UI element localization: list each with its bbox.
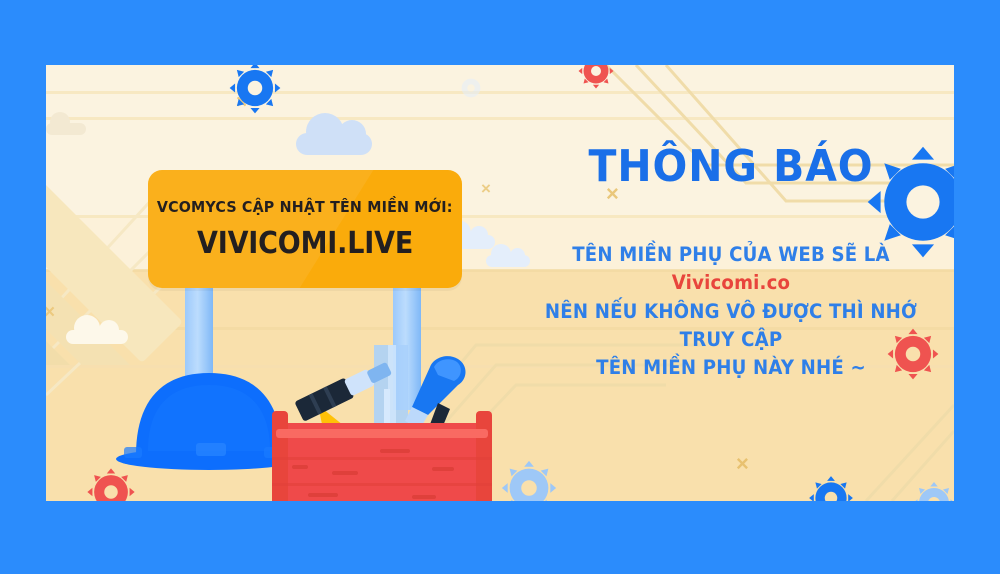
x-mark-icon: × [46,303,55,322]
sign-headline: VCOMYCS CẬP NHẬT TÊN MIỀN MỚI: [157,198,453,216]
cloud-icon [66,330,128,344]
sign-domain: VIVICOMI.LIVE [197,226,413,261]
announcement-domain-highlight: Vivicomi.co [672,271,790,294]
x-mark-icon: × [481,180,491,197]
announcement-line-2: NÊN NẾU KHÔNG VÔ ĐƯỢC THÌ NHỚ TRUY CẬP [531,298,931,355]
announcement-line-1-prefix: TÊN MIỀN PHỤ CỦA WEB SẼ LÀ [572,243,890,266]
announcement-title: THÔNG BÁO [531,145,931,189]
domain-sign-board: VCOMYCS CẬP NHẬT TÊN MIỀN MỚI: VIVICOMI.… [148,170,462,288]
toolbox-illustration [262,345,502,501]
announcement-banner-card: × × × × × × [46,65,954,501]
announcement-body: TÊN MIỀN PHỤ CỦA WEB SẼ LÀ Vivicomi.co N… [531,241,931,382]
cloud-icon [296,133,372,155]
gear-icon [910,479,954,501]
announcement-text-block: THÔNG BÁO TÊN MIỀN PHỤ CỦA WEB SẼ LÀ Viv… [516,145,946,382]
gear-icon [806,473,856,501]
announcement-line-3: TÊN MIỀN PHỤ NÀY NHÉ ~ [531,354,931,382]
cloud-icon [46,123,86,135]
gear-icon [576,65,616,91]
x-mark-icon: × [736,453,749,475]
gear-icon [456,73,486,103]
gear-icon [498,457,560,501]
gear-icon [84,465,138,501]
announcement-line-1: TÊN MIỀN PHỤ CỦA WEB SẼ LÀ Vivicomi.co [531,241,931,298]
gear-icon [226,65,284,117]
